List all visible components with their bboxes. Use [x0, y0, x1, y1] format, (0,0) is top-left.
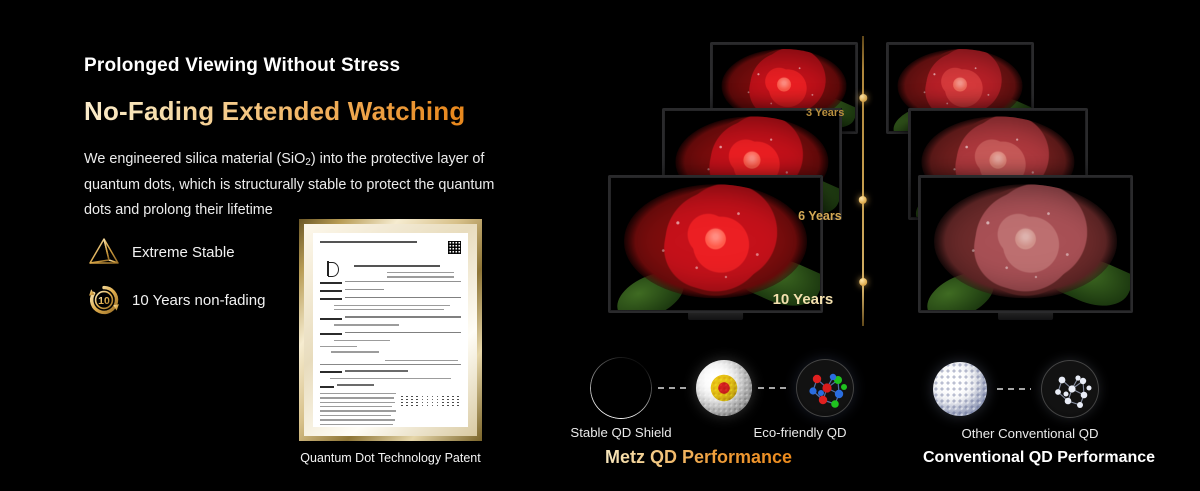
timeline-dot: [859, 278, 867, 286]
promo-banner: Prolonged Viewing Without Stress No-Fadi…: [0, 0, 1200, 491]
tetrahedron-icon: [84, 233, 124, 271]
ten-year-cycle-icon: 10: [84, 281, 124, 319]
connector-dashed-line: [997, 388, 1031, 390]
patent-meta-line: [387, 272, 454, 273]
patent-abstract-text: [320, 393, 396, 427]
feature-item-ten-years: 10 10 Years non-fading: [84, 280, 265, 320]
eco-friendly-qd-label: Eco-friendly QD: [744, 425, 856, 440]
patent-field-row: [320, 281, 461, 285]
tv-panel-conventional-10-years: [918, 175, 1133, 313]
eco-friendly-qd-molecule-icon: [796, 359, 854, 417]
patent-meta-line: [387, 276, 454, 277]
fade-timeline: 3 Years 6 Years 10 Years: [862, 36, 864, 326]
ten-badge-text: 10: [98, 295, 110, 307]
timeline-label: 10 Years: [803, 291, 864, 308]
patent-page: [313, 233, 468, 427]
connector-dashed-line: [758, 387, 790, 389]
body-line-1b: ) into the protective layer of: [311, 151, 485, 167]
patent-figure-dots: [401, 396, 461, 406]
qr-code-icon: [448, 241, 461, 254]
patent-field-row: [320, 289, 461, 293]
timeline-dot: [859, 196, 867, 204]
body-description: We engineered silica material (SiO2) int…: [84, 147, 524, 223]
copy-block: Prolonged Viewing Without Stress No-Fadi…: [84, 55, 554, 223]
feature-label: 10 Years non-fading: [132, 292, 265, 309]
other-conventional-qd-label: Other Conventional QD: [955, 426, 1105, 441]
conventional-qd-sphere-icon: [933, 362, 987, 416]
feature-list: Extreme Stable 10 10 Years non-fad: [84, 232, 265, 320]
patent-field-row: [320, 297, 461, 301]
patent-mat: [304, 224, 477, 436]
feature-item-extreme-stable: Extreme Stable: [84, 232, 265, 272]
timeline-label: 6 Years: [820, 209, 864, 223]
timeline-label-text: 6 Years: [798, 209, 842, 223]
patent-field-row: [320, 332, 461, 336]
metz-qd-icon-row: [590, 357, 854, 419]
body-line-2: quantum dots, which is structurally stab…: [84, 177, 434, 193]
patent-emblem-icon: [326, 261, 342, 277]
patent-field-row: [320, 316, 461, 320]
timeline-label-text: 3 Years: [806, 107, 844, 119]
stable-qd-shield-icon: [590, 357, 652, 419]
patent-frame: [299, 219, 482, 441]
timeline-node-3-years: 3 Years: [843, 94, 882, 119]
timeline-dot: [859, 94, 867, 102]
timeline-label: 3 Years: [825, 107, 863, 119]
stable-qd-shield-label: Stable QD Shield: [561, 425, 681, 440]
patent-field-row: [320, 370, 461, 374]
patent-abstract-row: [320, 393, 461, 427]
body-line-1: We engineered silica material (SiO: [84, 151, 305, 167]
patent-type-line: [354, 265, 440, 267]
patent-emblem-row: [320, 259, 461, 281]
timeline-label-text: 10 Years: [773, 291, 834, 308]
metz-tv-stack: [600, 30, 870, 360]
feature-label: Extreme Stable: [132, 244, 235, 261]
connector-dashed-line: [658, 387, 690, 389]
conventional-qd-molecule-icon: [1041, 360, 1099, 418]
patent-office-line: [320, 241, 417, 243]
conventional-qd-performance-title: Conventional QD Performance: [923, 449, 1155, 467]
subscript-two: 2: [305, 157, 311, 168]
patent-certificate: Quantum Dot Technology Patent: [299, 219, 482, 441]
eyebrow-text: Prolonged Viewing Without Stress: [84, 55, 554, 77]
patent-field-row: [320, 384, 461, 388]
qd-core-shell-sphere-icon: [696, 360, 752, 416]
patent-header-row: [320, 241, 461, 254]
patent-caption: Quantum Dot Technology Patent: [300, 451, 480, 465]
page-title: No-Fading Extended Watching: [84, 96, 554, 127]
conventional-qd-icon-row: [933, 360, 1099, 418]
patent-figure: [401, 393, 461, 427]
metz-qd-performance-title: Metz QD Performance: [605, 447, 792, 468]
conventional-tv-stack: [878, 30, 1158, 360]
